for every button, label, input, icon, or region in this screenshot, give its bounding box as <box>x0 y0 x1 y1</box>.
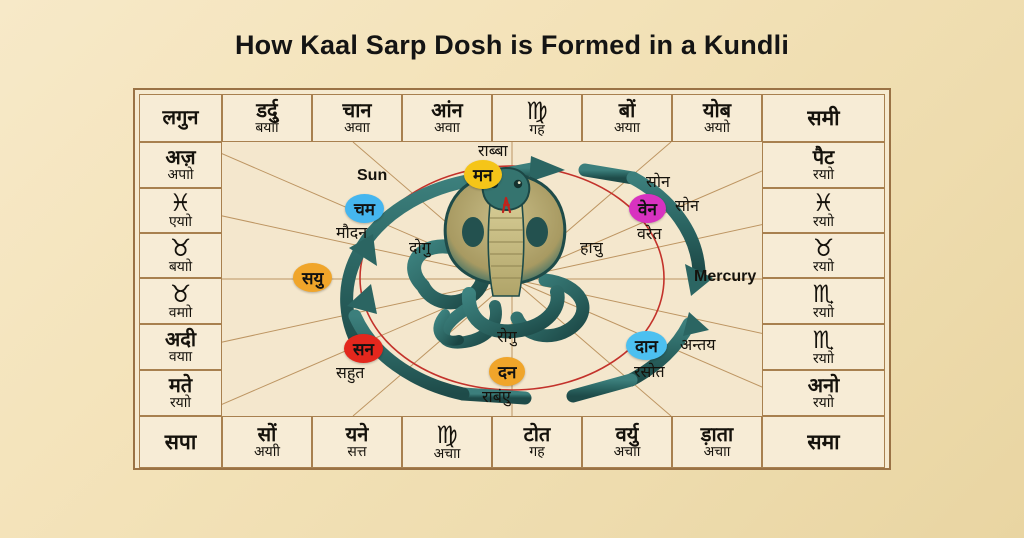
cell-left-4[interactable]: अदी वयाा <box>139 324 222 370</box>
cell-main: अज़ <box>165 148 195 168</box>
planet-outer-label-dan: राबंएु <box>482 385 511 407</box>
inner-label-hachu: हाचु <box>580 236 603 258</box>
cell-right-1[interactable]: ♓ रयाो <box>762 188 885 233</box>
cell-sub: रयाो <box>813 353 834 367</box>
cell-sub: अवाा <box>344 122 370 136</box>
page-title: How Kaal Sarp Dosh is Formed in a Kundli <box>0 30 1024 61</box>
zodiac-pisces-icon: ♓ <box>813 191 835 215</box>
cell-main: समी <box>807 108 839 129</box>
cell-bottom-5[interactable]: वर्यु अचाा <box>582 416 672 468</box>
planet-outer-label-san: सहुत <box>336 361 364 383</box>
zodiac-taurus-icon: ♉ <box>170 282 192 306</box>
planet-outer-label-daan: अन्तय <box>680 333 716 355</box>
cell-top-7[interactable]: समी <box>762 94 885 142</box>
cell-main: सपा <box>165 432 197 453</box>
cell-sub: अचाा <box>614 446 641 460</box>
cell-sub: बयााँ <box>255 122 278 136</box>
cell-right-5[interactable]: अनो रयाो <box>762 370 885 416</box>
cell-sub: वमाो <box>169 307 192 321</box>
cell-sub: रयाो <box>813 169 834 183</box>
cell-top-4[interactable]: ♍ गह <box>492 94 582 142</box>
cell-sub: रयाो <box>813 397 834 411</box>
cell-main: आंन <box>431 101 463 121</box>
cell-main: बों <box>619 101 636 121</box>
inner-label-rogu: रोगु <box>497 325 517 347</box>
cell-left-2[interactable]: ♉ बयाो <box>139 233 222 278</box>
planet-pill-san[interactable]: सन <box>344 334 383 363</box>
zodiac-taurus-icon: ♉ <box>813 236 835 260</box>
cell-sub: अचाा <box>704 446 731 460</box>
cell-main: समा <box>807 432 839 453</box>
cell-sub: गह <box>529 124 544 138</box>
cell-bottom-2[interactable]: यने सत्त <box>312 416 402 468</box>
cell-main: अनो <box>808 376 840 396</box>
cell-sub: अपाो <box>168 169 194 183</box>
inner-label-dogu: दोगु <box>409 236 431 258</box>
side-label-rasot: रसोत <box>634 360 665 382</box>
side-label-varet: वरेत <box>637 222 662 244</box>
cell-right-4[interactable]: ♏ रयाो <box>762 324 885 370</box>
cell-sub: एयाो <box>169 216 192 230</box>
cell-bottom-7[interactable]: समा <box>762 416 885 468</box>
cell-sub: रयाो <box>813 261 834 275</box>
cell-sub: अयाा <box>614 122 640 136</box>
cell-bottom-0[interactable]: सपा <box>139 416 222 468</box>
zodiac-scorpio-icon: ♏ <box>813 282 835 306</box>
mercury-label: Mercury <box>694 268 756 286</box>
cell-sub: बयाो <box>169 261 192 275</box>
cell-left-5[interactable]: मते रयाो <box>139 370 222 416</box>
cell-sub: अयाी <box>254 446 280 460</box>
cell-right-0[interactable]: पैट रयाो <box>762 142 885 188</box>
cell-bottom-6[interactable]: ड़ाता अचाा <box>672 416 762 468</box>
zodiac-virgo-icon: ♍ <box>436 423 458 447</box>
cell-top-6[interactable]: योब अयाो <box>672 94 762 142</box>
cell-bottom-3[interactable]: ♍ अचाा <box>402 416 492 468</box>
cell-sub: रयाो <box>170 397 191 411</box>
cell-sub: अचाा <box>434 448 461 462</box>
cell-top-3[interactable]: आंन अवाा <box>402 94 492 142</box>
cell-sub: अयाो <box>704 122 730 136</box>
cell-main: वर्यु <box>616 425 639 445</box>
cell-main: यने <box>346 425 369 445</box>
cell-main: मते <box>169 376 192 396</box>
planet-pill-daan[interactable]: दान <box>626 331 667 360</box>
cell-left-0[interactable]: अज़ अपाो <box>139 142 222 188</box>
planet-pill-ven[interactable]: वेन <box>629 194 666 223</box>
cell-main: सों <box>258 425 277 445</box>
cell-left-3[interactable]: ♉ वमाो <box>139 278 222 324</box>
cell-bottom-4[interactable]: टोत गह <box>492 416 582 468</box>
zodiac-scorpio-icon: ♏ <box>813 328 835 352</box>
cell-top-0[interactable]: लगुन <box>139 94 222 142</box>
cell-sub: रयाो <box>813 216 834 230</box>
cell-right-2[interactable]: ♉ रयाो <box>762 233 885 278</box>
cell-top-2[interactable]: चान अवाा <box>312 94 402 142</box>
cell-sub: रयाो <box>813 307 834 321</box>
planet-pill-cham[interactable]: चम <box>345 194 384 223</box>
zodiac-virgo-icon: ♍ <box>526 99 548 123</box>
cell-sub: अवाा <box>434 122 460 136</box>
cell-left-1[interactable]: ♓ एयाो <box>139 188 222 233</box>
cell-top-5[interactable]: बों अयाा <box>582 94 672 142</box>
cell-bottom-1[interactable]: सों अयाी <box>222 416 312 468</box>
cell-sub: सत्त <box>347 446 366 460</box>
zodiac-pisces-icon: ♓ <box>170 191 192 215</box>
planet-outer-label-cham: मौदन <box>336 221 367 243</box>
planet-outer-label-man: राब्बा <box>478 139 508 161</box>
cell-main: टोत <box>524 425 551 445</box>
planet-pill-sayu[interactable]: सयु <box>293 263 332 292</box>
cell-main: पैट <box>813 148 834 168</box>
planet-pill-man[interactable]: मन <box>464 160 502 189</box>
cell-sub: वयाा <box>169 351 192 365</box>
sun-label: Sun <box>357 167 387 185</box>
cell-right-3[interactable]: ♏ रयाो <box>762 278 885 324</box>
zodiac-taurus-icon: ♉ <box>170 236 192 260</box>
side-label-son-right: सोन <box>675 194 699 216</box>
cell-main: अदी <box>165 330 196 350</box>
cell-sub: गह <box>529 446 544 460</box>
cell-main: योब <box>703 101 731 121</box>
cell-main: ड़ाता <box>701 425 733 445</box>
cell-main: डर्दु <box>256 101 277 121</box>
planet-outer-label-ven: सोन <box>646 170 670 192</box>
cell-top-1[interactable]: डर्दु बयााँ <box>222 94 312 142</box>
cell-main: लगुन <box>163 108 199 128</box>
cell-main: चान <box>343 101 372 121</box>
